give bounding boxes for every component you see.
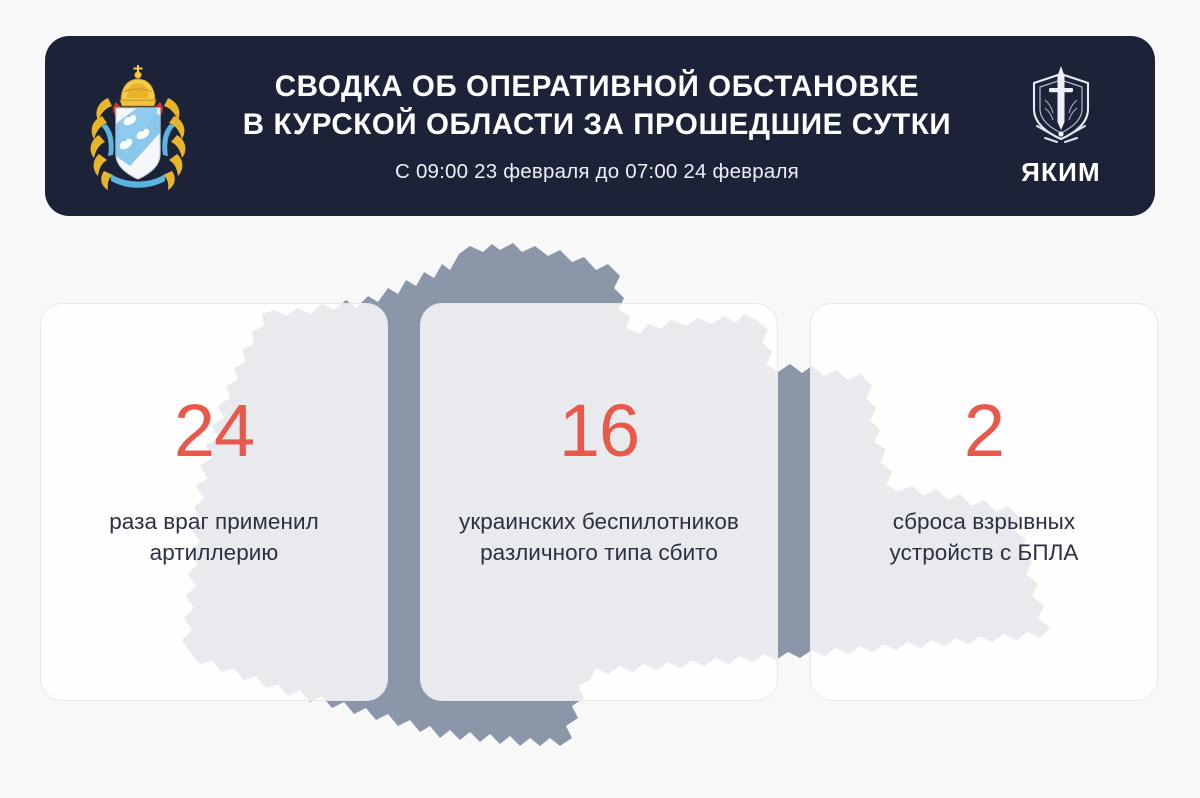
stat-card-drones-downed: 16 украинских беспилотников различного т…	[420, 303, 778, 701]
stat-number: 24	[174, 394, 254, 468]
infographic-page: СВОДКА ОБ ОПЕРАТИВНОЙ ОБСТАНОВКЕ В КУРСК…	[0, 0, 1200, 793]
stat-number: 2	[964, 394, 1004, 468]
stat-caption: раза враг применил артиллерию	[109, 506, 319, 568]
stats-card-row: 24 раза враг применил артиллерию 16 укра…	[0, 0, 1200, 793]
stat-number: 16	[559, 394, 639, 468]
stat-caption: сброса взрывных устройств с БПЛА	[890, 506, 1079, 568]
stat-caption: украинских беспилотников различного типа…	[459, 506, 739, 568]
stat-card-artillery: 24 раза враг применил артиллерию	[40, 303, 388, 701]
stat-card-explosive-drops: 2 сброса взрывных устройств с БПЛА	[810, 303, 1158, 701]
